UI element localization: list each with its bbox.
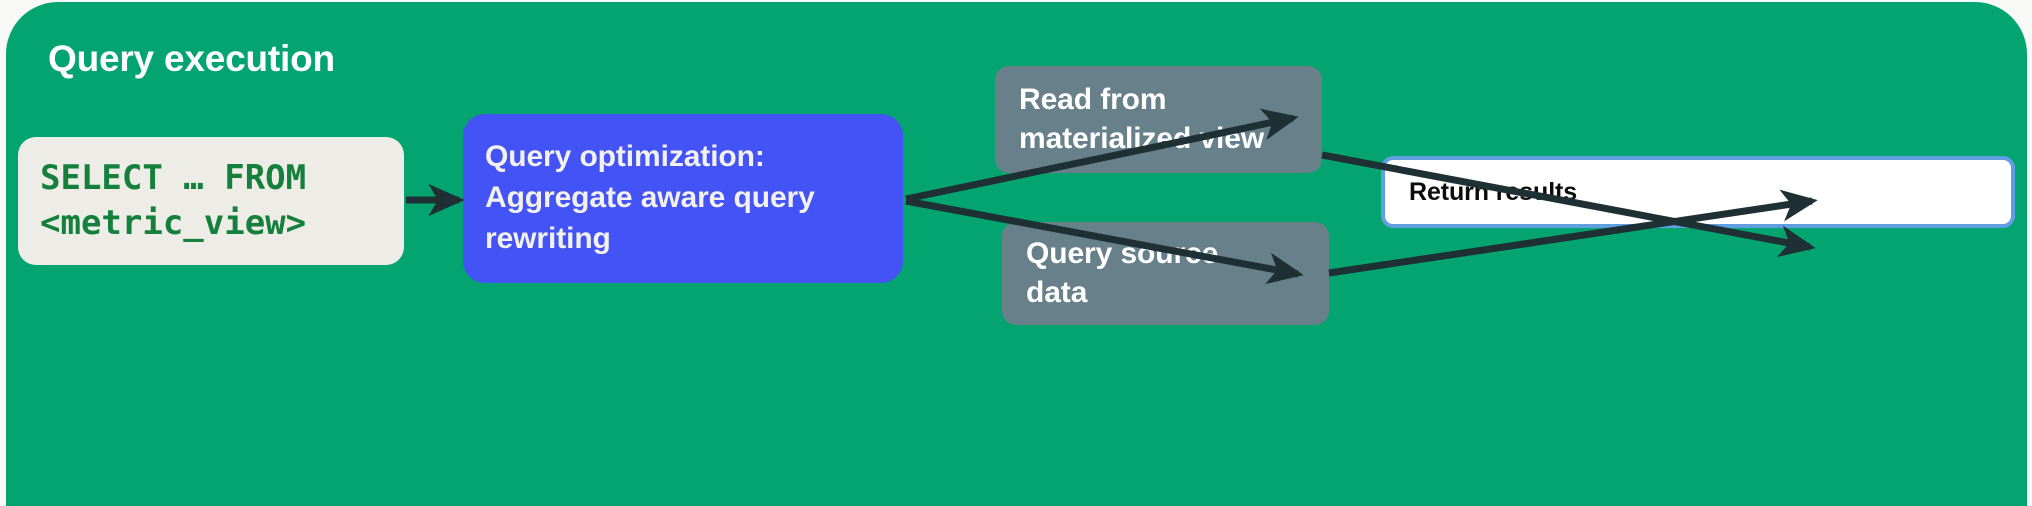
node-query-source-data[interactable]: Query source data [1002, 222, 1329, 325]
node-return-results[interactable]: Return results [1381, 156, 2015, 228]
source-line-1: Query source [1026, 235, 1305, 273]
optimize-line-1: Query optimization: [485, 137, 881, 178]
node-read-materialized-view[interactable]: Read from materialized view [995, 66, 1322, 173]
sql-line-1: SELECT … FROM [40, 156, 382, 201]
panel-title: Query execution [48, 38, 335, 80]
node-sql-query[interactable]: SELECT … FROM <metric_view> [18, 137, 404, 265]
diagram-canvas: Query execution SELECT … FROM <metric_vi… [0, 0, 2032, 506]
matview-line-2: materialized view [1019, 120, 1298, 158]
optimize-line-2: Aggregate aware query [485, 178, 881, 219]
node-query-optimization[interactable]: Query optimization: Aggregate aware quer… [463, 114, 903, 283]
sql-line-2: <metric_view> [40, 201, 382, 246]
return-line-1: Return results [1409, 178, 1577, 207]
optimize-line-3: rewriting [485, 219, 881, 260]
matview-line-1: Read from [1019, 81, 1298, 119]
source-line-2: data [1026, 274, 1305, 312]
